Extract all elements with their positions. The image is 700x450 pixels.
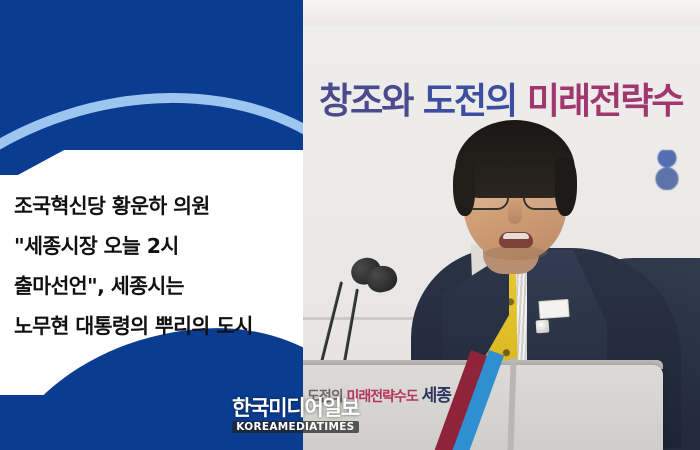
headline-graphic-panel: 조국혁신당 황운하 의원 "세종시장 오늘 2시 출마선언", 세종시는 노무현… <box>0 0 303 450</box>
podium-text-part-3: 세종 <box>422 386 451 406</box>
chin-shadow <box>485 246 547 260</box>
news-card: 조국혁신당 황운하 의원 "세종시장 오늘 2시 출마선언", 세종시는 노무현… <box>0 0 700 450</box>
press-conference-photo: 창조와 도전의 미래전략수 <box>303 0 700 450</box>
lapel-pin-icon <box>536 320 550 334</box>
name-badge <box>538 299 569 319</box>
headline-line-3: 출마선언", 세종시는 <box>14 266 299 306</box>
headline-line-4: 노무현 대통령의 뿌리의 도시 <box>14 306 299 346</box>
hair-side-left <box>453 160 475 216</box>
watermark-logo: 한국미디어일보 KOREAMEDIATIMES <box>232 398 359 434</box>
watermark-korean-text: 한국미디어일보 <box>232 398 359 419</box>
headline-line-2: "세종시장 오늘 2시 <box>14 226 299 266</box>
headline-line-1: 조국혁신당 황운하 의원 <box>14 186 299 226</box>
teeth <box>503 233 529 239</box>
watermark-english-text: KOREAMEDIATIMES <box>232 421 359 434</box>
hair-side-right <box>555 158 577 216</box>
headline: 조국혁신당 황운하 의원 "세종시장 오늘 2시 출마선언", 세종시는 노무현… <box>14 186 299 346</box>
